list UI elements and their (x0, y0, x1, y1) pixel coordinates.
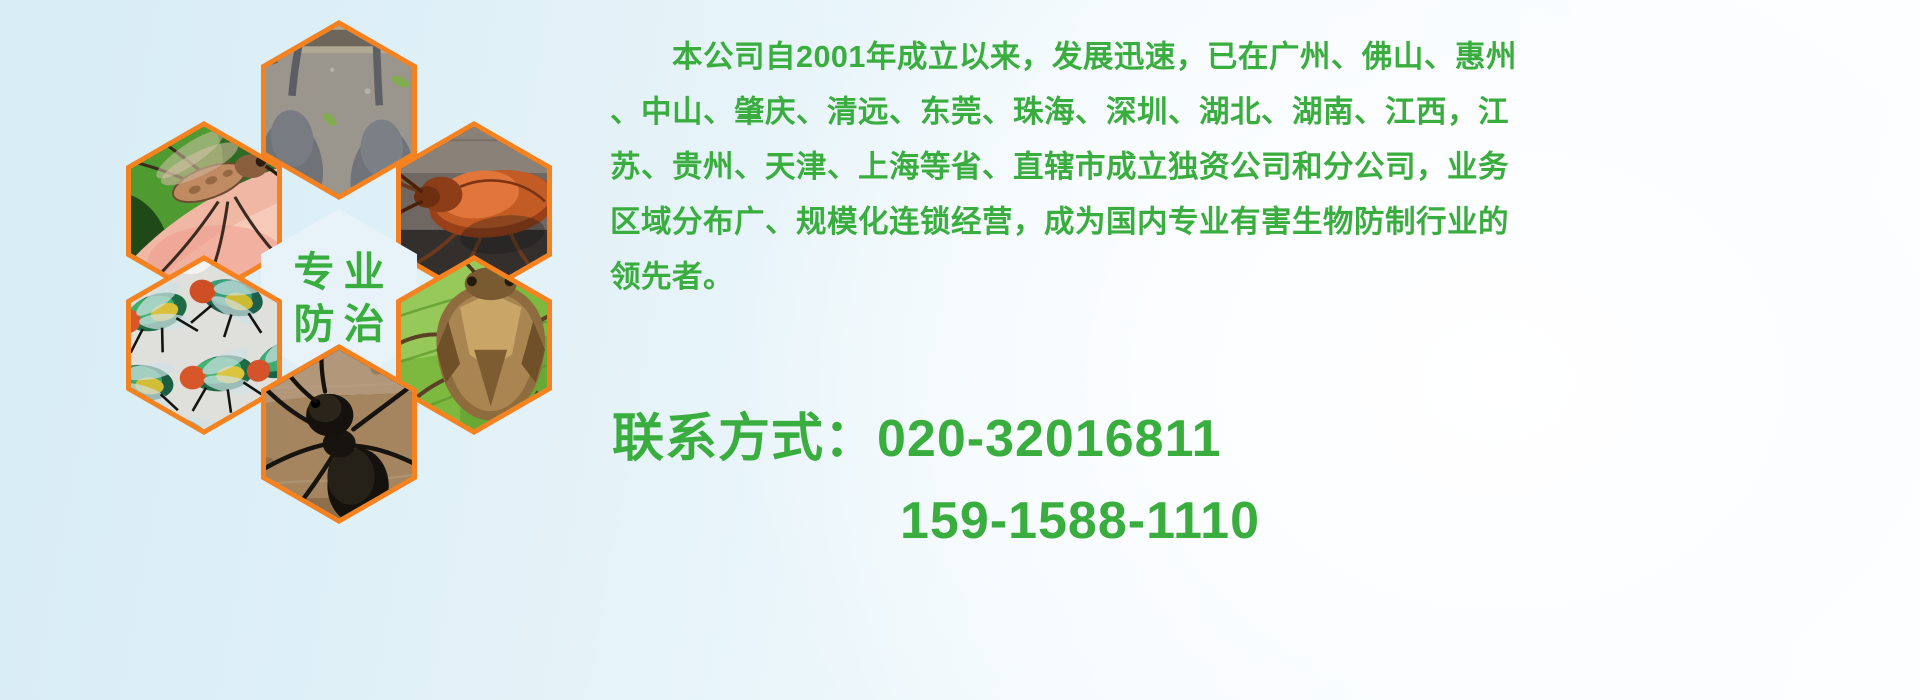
stinkbug-illustration (401, 261, 547, 430)
center-label-line-2: 防治 (285, 304, 394, 346)
intro-line: 领先者。 (610, 250, 1900, 305)
hexagon-photo-cluster: 专业 防治 (80, 6, 600, 566)
stinkbug-photo (401, 261, 547, 430)
flies-illustration (131, 261, 277, 430)
contact-block: 联系方式：020-32016811 159-1588-1110 (612, 398, 1912, 562)
intro-line: 苏、贵州、天津、上海等省、直辖市成立独资公司和分公司，业务 (610, 140, 1900, 195)
center-label-line-1: 专业 (285, 252, 394, 294)
intro-line: 本公司自2001年成立以来，发展迅速，已在广州、佛山、惠州 (610, 30, 1900, 85)
hex-cell-stinkbug-photo[interactable] (396, 255, 552, 435)
contact-line-mobile[interactable]: 159-1588-1110 (612, 480, 1912, 562)
contact-line-landline[interactable]: 联系方式：020-32016811 (612, 398, 1912, 480)
rodent-illustration (266, 26, 412, 195)
flies-photo (131, 261, 277, 430)
banner-root: 专业 防治 (0, 0, 1920, 700)
ant-photo (266, 350, 412, 519)
intro-paragraph: 本公司自2001年成立以来，发展迅速，已在广州、佛山、惠州 、中山、肇庆、清远、… (610, 30, 1900, 305)
intro-line: 区域分布广、规模化连锁经营，成为国内专业有害生物防制行业的 (610, 195, 1900, 250)
hex-cell-ant-photo[interactable] (261, 344, 417, 524)
hex-cell-rodent-photo[interactable] (261, 20, 417, 200)
hex-cell-flies-photo[interactable] (126, 255, 282, 435)
rodent-photo (266, 26, 412, 195)
ant-illustration (266, 350, 412, 519)
intro-line: 、中山、肇庆、清远、东莞、珠海、深圳、湖北、湖南、江西，江 (610, 85, 1900, 140)
